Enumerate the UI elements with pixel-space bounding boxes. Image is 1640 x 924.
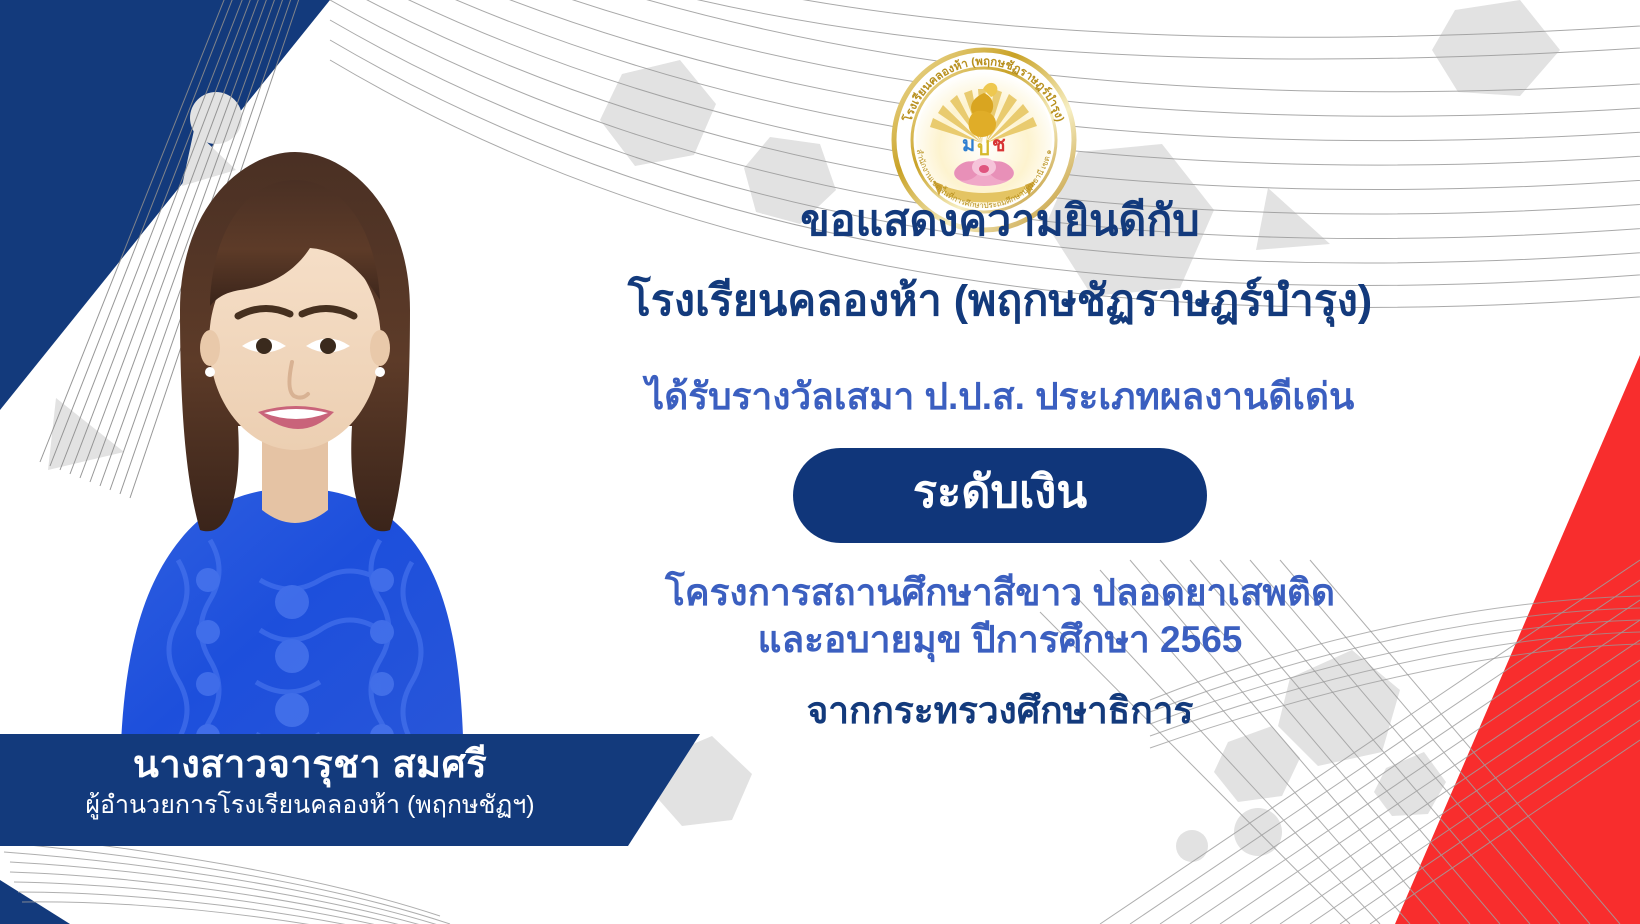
award-line: ได้รับรางวัลเสมา ป.ป.ส. ประเภทผลงานดีเด่… (560, 369, 1440, 425)
project-line-1: โครงการสถานศึกษาสีขาว ปลอดยาเสพติด (560, 569, 1440, 616)
director-photo (60, 110, 530, 790)
project-line-2: และอบายมุข ปีการศึกษา 2565 (560, 616, 1440, 663)
message-block: ขอแสดงความยินดีกับ โรงเรียนคลองห้า (พฤกษ… (560, 190, 1440, 736)
svg-text:ช: ช (992, 134, 1006, 156)
congratulations-line: ขอแสดงความยินดีกับ (560, 190, 1440, 252)
svg-text:ม: ม (962, 134, 975, 156)
congratulation-card: ม ป ช โรงเรียนคลองห้า (พฤกษชัฏราษฎร์บำรุ… (0, 0, 1640, 924)
earring (205, 367, 215, 377)
director-role: ผู้อำนวยการโรงเรียนคลองห้า (พฤกษชัฏฯ) (0, 790, 620, 820)
director-name-banner: นางสาวจารุชา สมศรี ผู้อำนวยการโรงเรียนคล… (0, 734, 700, 846)
school-name-line: โรงเรียนคลองห้า (พฤกษชัฏราษฎร์บำรุง) (560, 268, 1440, 335)
granting-ministry-line: จากกระทรวงศึกษาธิการ (560, 687, 1440, 735)
director-name: นางสาวจารุชา สมศรี (0, 744, 620, 788)
award-level-badge: ระดับเงิน (793, 448, 1207, 542)
svg-text:ป: ป (977, 138, 990, 160)
